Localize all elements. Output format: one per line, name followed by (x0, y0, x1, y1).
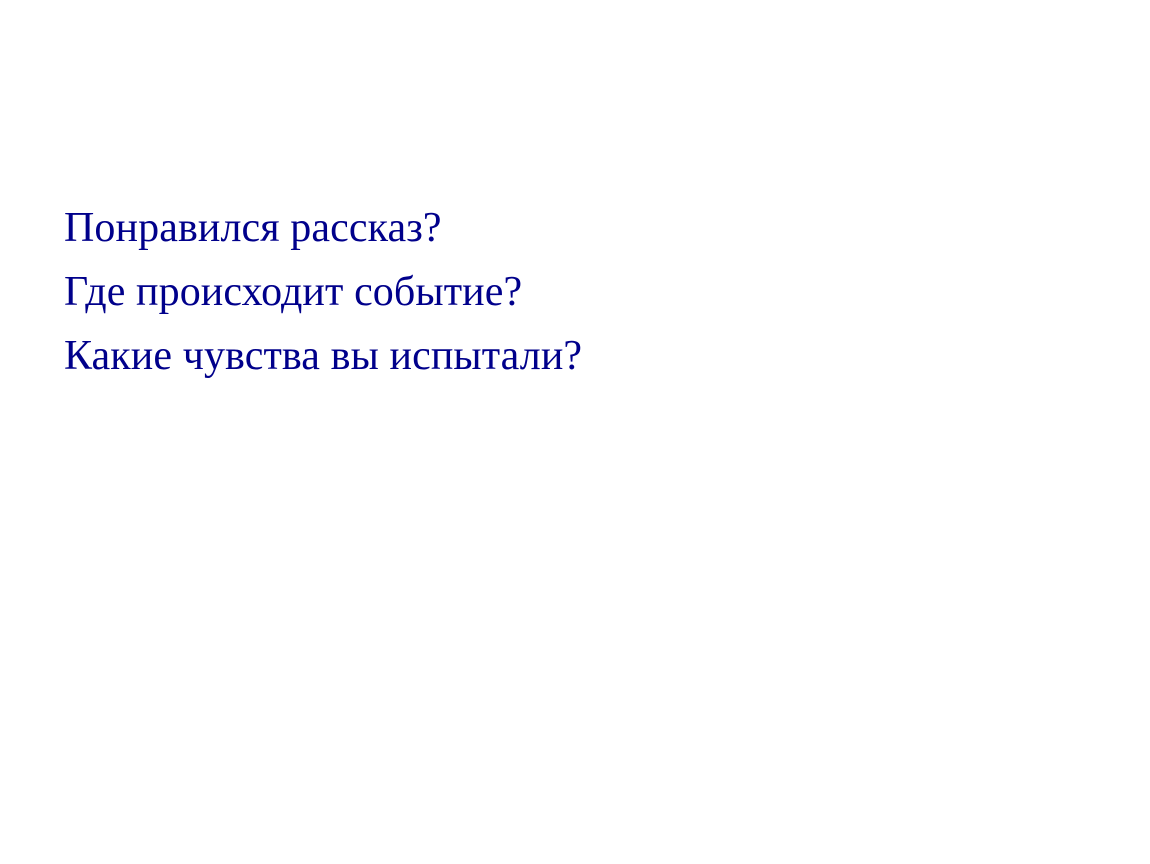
question-line-3: Какие чувства вы испытали? (64, 324, 1084, 388)
question-line-2: Где происходит событие? (64, 260, 1084, 324)
slide-canvas: Понравился рассказ? Где происходит событ… (0, 0, 1150, 864)
question-list: Понравился рассказ? Где происходит событ… (64, 196, 1084, 388)
question-line-1: Понравился рассказ? (64, 196, 1084, 260)
